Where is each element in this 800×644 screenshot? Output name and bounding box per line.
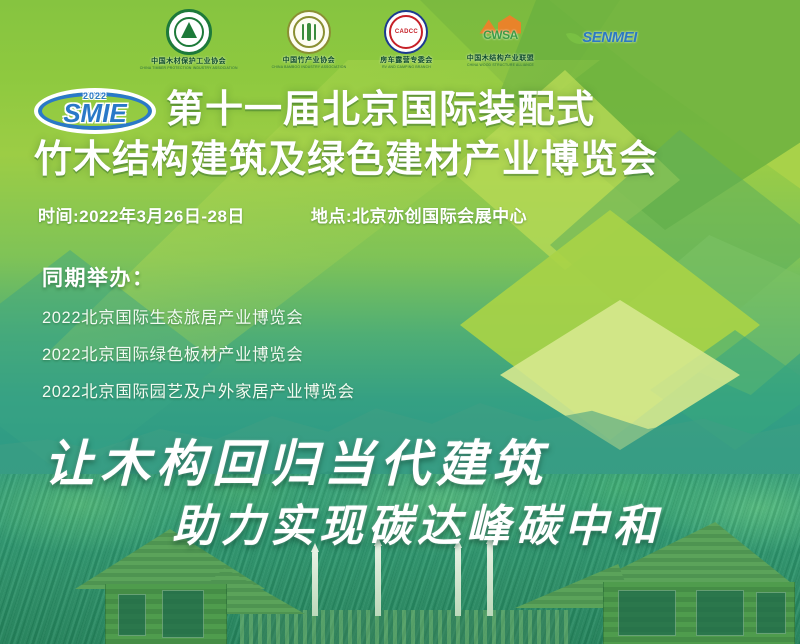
logo-acronym: CADCC	[395, 29, 418, 35]
cadcc-ring-icon: CADCC	[384, 10, 428, 54]
concurrent-heading: 同期举办：	[42, 262, 355, 292]
cadcc-rv-camping-committee-logo[interactable]: CADCC 房车露营专委会 RV AND CAMPING BRANCH	[380, 10, 433, 69]
tree-emblem-icon	[166, 9, 212, 55]
cabin-door	[162, 590, 204, 638]
cabin-window	[118, 594, 146, 636]
page-title-line-2: 竹木结构建筑及绿色建材产业博览会	[0, 138, 800, 184]
cwsa-wood-structure-alliance-logo[interactable]: CWSA 中国木结构产业联盟 CHINA WOOD STRUCTURE ALLI…	[467, 12, 535, 67]
bamboo-industry-association-logo[interactable]: 中国竹产业协会 CHINA BAMBOO INDUSTRY ASSOCIATIO…	[272, 10, 347, 69]
senmei-logo[interactable]: SENMEI	[568, 26, 660, 52]
cabin-window	[618, 590, 676, 636]
slogan-line-1: 让木构回归当代建筑	[44, 424, 548, 496]
logo-label-cn: 中国木结构产业联盟	[467, 53, 535, 63]
logo-label-en: CHINA BAMBOO INDUSTRY ASSOCIATION	[272, 65, 347, 69]
concurrent-event-item: 2022北京国际生态旅居产业博览会	[42, 304, 355, 328]
event-date: 时间:2022年3月26日-28日	[38, 202, 245, 227]
logo-label-cn: 房车露营专委会	[380, 55, 433, 65]
smie-logo[interactable]: 2022 SMIE	[34, 88, 156, 134]
logo-acronym: SENMEI	[582, 29, 637, 46]
cabin-window	[756, 592, 786, 634]
event-meta: 时间:2022年3月26日-28日 地点:北京亦创国际会展中心	[38, 202, 527, 227]
concurrent-event-item: 2022北京国际绿色板材产业博览会	[42, 341, 355, 365]
logo-label-en: RV AND CAMPING BRANCH	[382, 65, 431, 69]
cabin-wall	[603, 582, 795, 644]
patio-umbrella-icon	[455, 546, 461, 616]
cabin-wall	[105, 584, 227, 644]
sponsor-logo-row: 中国木材保护工业协会 CHINA TIMBER PROTECTION INDUS…	[0, 8, 800, 70]
logo-label-en: CHINA TIMBER PROTECTION INDUSTRY ASSOCIA…	[140, 66, 238, 70]
title-block: 2022 SMIE 第十一届北京国际装配式 竹木结构建筑及绿色建材产业博览会	[0, 88, 800, 184]
china-timber-protection-association-logo[interactable]: 中国木材保护工业协会 CHINA TIMBER PROTECTION INDUS…	[140, 9, 238, 70]
page-title-line-1: 第十一届北京国际装配式	[166, 88, 595, 134]
house-roof-icon: CWSA	[473, 12, 527, 52]
patio-umbrella-icon	[375, 544, 381, 616]
concurrent-event-item: 2022北京国际园艺及户外家居产业博览会	[42, 378, 355, 402]
logo-acronym: CWSA	[475, 28, 525, 42]
smie-acronym: SMIE	[34, 100, 156, 126]
leaf-icon: SENMEI	[568, 26, 660, 52]
exhibition-poster: 中国木材保护工业协会 CHINA TIMBER PROTECTION INDUS…	[0, 0, 800, 644]
slogan-line-2: 助力实现碳达峰碳中和	[172, 490, 662, 554]
logo-label-cn: 中国竹产业协会	[283, 55, 336, 65]
title-line-1-row: 2022 SMIE 第十一届北京国际装配式	[0, 88, 800, 134]
concurrent-events-block: 同期举办： 2022北京国际生态旅居产业博览会 2022北京国际绿色板材产业博览…	[42, 262, 355, 415]
event-venue: 地点:北京亦创国际会展中心	[311, 202, 527, 227]
logo-label-en: CHINA WOOD STRUCTURE ALLIANCE	[467, 63, 534, 67]
patio-umbrella-icon	[312, 550, 318, 616]
logo-label-cn: 中国木材保护工业协会	[151, 56, 226, 66]
cabin-window	[696, 590, 744, 636]
bamboo-emblem-icon	[287, 10, 331, 54]
